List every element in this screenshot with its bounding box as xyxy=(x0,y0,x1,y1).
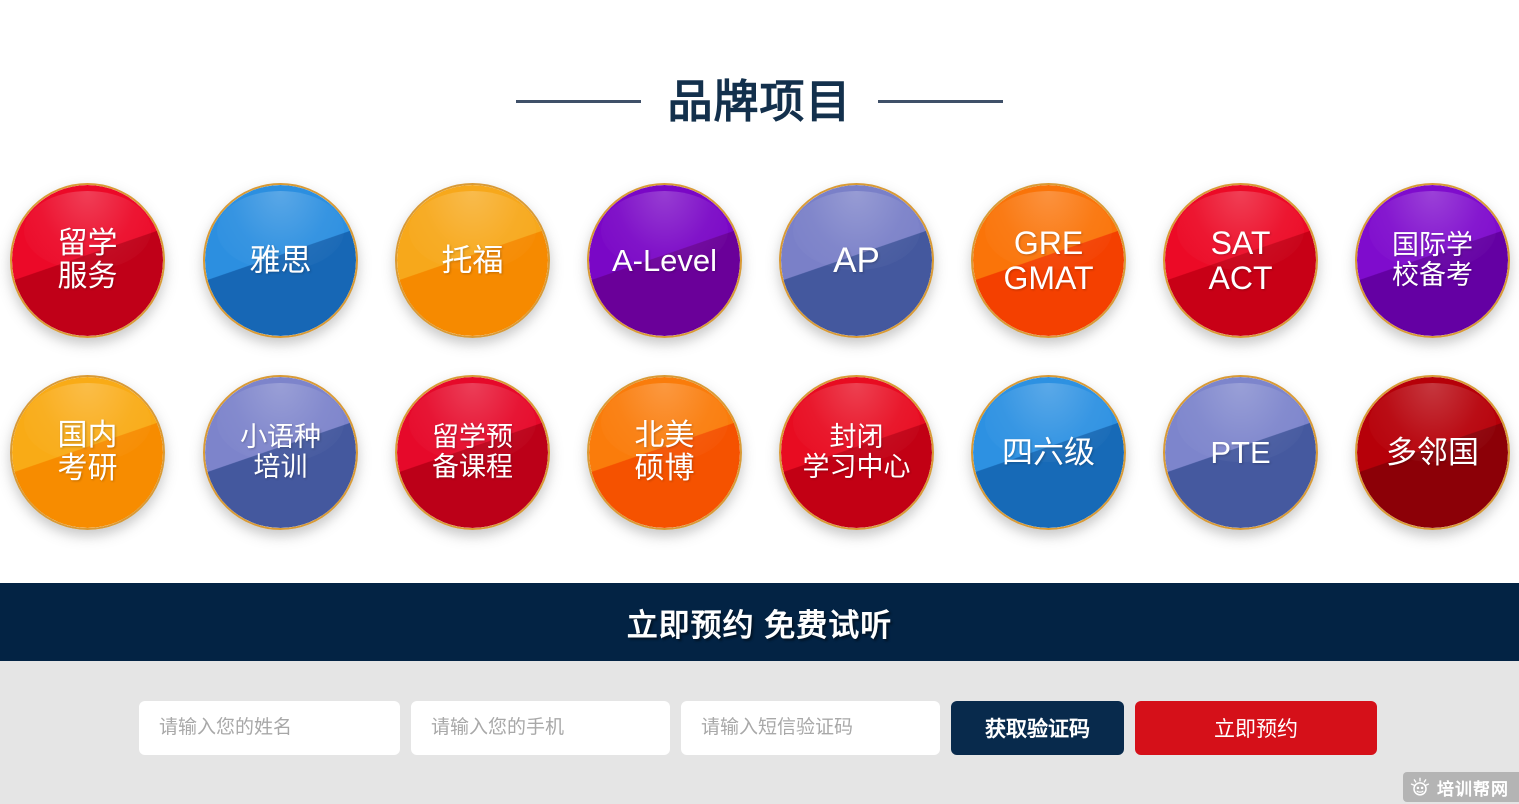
program-bubble-label: 四六级 xyxy=(998,436,1099,469)
sun-face-icon xyxy=(1410,777,1430,797)
program-bubble-prep-courses[interactable]: 留学预 备课程 xyxy=(395,375,550,530)
page-title: 品牌项目 xyxy=(667,79,851,124)
program-bubble-label: GRE GMAT xyxy=(999,226,1097,295)
program-bubble-grid: 留学 服务 雅思 托福 A-Level AP GRE GMAT SAT ACT … xyxy=(0,170,1519,560)
watermark-label: 培训帮网 xyxy=(1437,775,1509,800)
program-bubble-label: 留学 服务 xyxy=(54,228,122,293)
program-bubble-label: 国内 考研 xyxy=(54,420,122,485)
program-bubble-a-level[interactable]: A-Level xyxy=(587,183,742,338)
program-bubble-label: 北美 硕博 xyxy=(631,420,699,485)
cta-banner: 立即预约 免费试听 xyxy=(0,583,1519,661)
program-bubble-gre-gmat[interactable]: GRE GMAT xyxy=(971,183,1126,338)
site-watermark: 培训帮网 xyxy=(1403,772,1519,802)
get-sms-code-button[interactable]: 获取验证码 xyxy=(951,701,1124,755)
program-bubble-ielts[interactable]: 雅思 xyxy=(203,183,358,338)
heading-rule-left xyxy=(516,100,641,103)
program-bubble-na-masters[interactable]: 北美 硕博 xyxy=(587,375,742,530)
program-bubble-closed-center[interactable]: 封闭 学习中心 xyxy=(779,375,934,530)
program-bubble-label: 小语种 培训 xyxy=(236,423,325,481)
booking-form-section: 获取验证码 立即预约 xyxy=(0,661,1519,804)
program-bubble-intl-school[interactable]: 国际学 校备考 xyxy=(1355,183,1510,338)
program-bubble-minor-langs[interactable]: 小语种 培训 xyxy=(203,375,358,530)
heading-rule-right xyxy=(878,100,1003,103)
booking-form: 获取验证码 立即预约 xyxy=(139,701,1377,755)
program-bubble-label: PTE xyxy=(1206,436,1274,469)
program-bubble-kaoyan[interactable]: 国内 考研 xyxy=(10,375,165,530)
program-bubble-liuxuefuwu[interactable]: 留学 服务 xyxy=(10,183,165,338)
program-bubble-label: A-Level xyxy=(608,244,721,277)
phone-input[interactable] xyxy=(411,701,670,755)
program-bubble-label: 多邻国 xyxy=(1382,436,1483,469)
program-bubble-label: 封闭 学习中心 xyxy=(799,423,915,481)
program-bubble-duolingo[interactable]: 多邻国 xyxy=(1355,375,1510,530)
program-bubble-label: 雅思 xyxy=(246,244,316,277)
program-bubble-ap[interactable]: AP xyxy=(779,183,934,338)
program-bubble-label: 托福 xyxy=(438,244,508,277)
program-bubble-label: 国际学 校备考 xyxy=(1388,231,1477,289)
program-bubble-label: 留学预 备课程 xyxy=(428,423,517,481)
program-bubble-pte[interactable]: PTE xyxy=(1163,375,1318,530)
submit-booking-button[interactable]: 立即预约 xyxy=(1135,701,1377,755)
program-bubble-toefl[interactable]: 托福 xyxy=(395,183,550,338)
program-bubble-label: SAT ACT xyxy=(1205,226,1277,295)
program-bubble-label: AP xyxy=(829,242,884,280)
cta-banner-title: 立即预约 免费试听 xyxy=(627,600,893,645)
program-bubble-cet[interactable]: 四六级 xyxy=(971,375,1126,530)
program-bubble-sat-act[interactable]: SAT ACT xyxy=(1163,183,1318,338)
name-input[interactable] xyxy=(139,701,400,755)
sms-code-input[interactable] xyxy=(681,701,940,755)
section-heading: 品牌项目 xyxy=(0,62,1519,140)
